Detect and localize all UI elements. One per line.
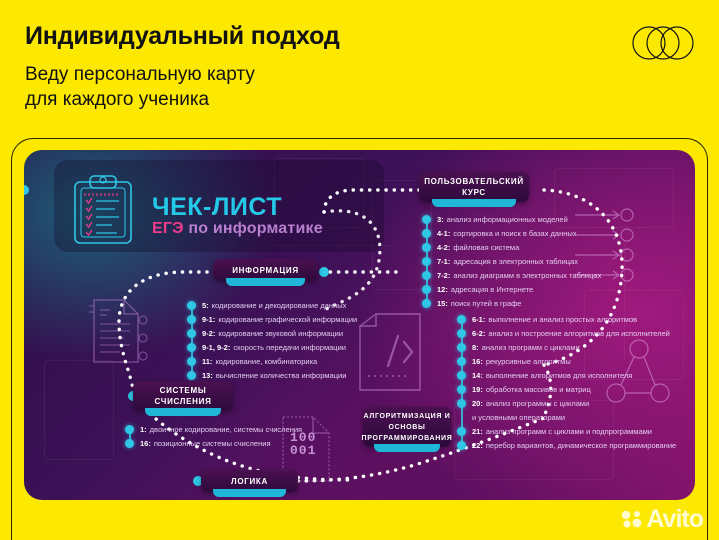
list-item[interactable]: 11:кодирование, комбинаторика <box>187 354 357 368</box>
list-item[interactable]: 9-1, 9-2:скорость передачи информации <box>187 340 357 354</box>
list-item-text: поиск путей в графе <box>451 299 522 308</box>
list-item-text: файловая система <box>453 243 519 252</box>
list-item[interactable]: 8:анализ программ с циклами <box>457 340 676 354</box>
list-item-number: 7-1: <box>437 257 450 266</box>
list-item-number: 22: <box>472 441 483 450</box>
list-item-number: 4-1: <box>437 229 450 238</box>
list-item-number: 11: <box>202 357 212 366</box>
list-item[interactable]: 19:обработка массивов и матриц <box>457 382 676 396</box>
list-item-text: перебор вариантов, динамическое программ… <box>486 441 676 450</box>
list-item-text: анализ программы с циклами <box>486 399 589 408</box>
list-item-text: анализ информационных моделей <box>447 215 568 224</box>
list-item-number: 16: <box>472 357 483 366</box>
list-item-number: 1: <box>140 425 147 434</box>
three-circles-logo-icon <box>632 22 694 64</box>
list-item-number: 15: <box>437 299 448 308</box>
list-item-text: скорость передачи информации <box>233 343 346 352</box>
list-item-text: анализ и построение алгоритмов для испол… <box>488 329 669 338</box>
list-item[interactable]: 21:анализ программ с циклами и подпрогра… <box>457 424 676 438</box>
list-item[interactable]: 4-1:сортировка и поиск в базах данных <box>422 226 601 240</box>
list-item-text: адресация в электронных таблицах <box>453 257 578 266</box>
list-item-number: 20: <box>472 399 483 408</box>
list-item-text: сортировка и поиск в базах данных <box>453 229 576 238</box>
list-item-number: 21: <box>472 427 483 436</box>
list-item[interactable]: 15:поиск путей в графе <box>422 296 601 310</box>
list-item-number: 9-1: <box>202 315 215 324</box>
badge-informaciya[interactable]: ИНФОРМАЦИЯ <box>213 259 318 281</box>
list-item-text: вычисление количества информации <box>216 371 347 380</box>
list-algoritmizaciya: 6-1:выполнение и анализ простых алгоритм… <box>457 312 676 452</box>
list-item-text: кодирование звуковой информации <box>218 329 343 338</box>
list-spine <box>191 302 193 376</box>
list-item[interactable]: 9-2:кодирование звуковой информации <box>187 326 357 340</box>
list-polzovatelskiy-kurs: 3:анализ информационных моделей4-1:сорти… <box>422 212 601 310</box>
list-item-text: кодирование, комбинаторика <box>215 357 317 366</box>
list-item-text: позиционные системы счисления <box>154 439 271 448</box>
list-informaciya: 5:кодирование и декодирование данных9-1:… <box>187 298 357 382</box>
badge-algoritmizaciya[interactable]: АЛГОРИТМИЗАЦИЯ И ОСНОВЫ ПРОГРАММИРОВАНИЯ <box>363 407 451 447</box>
avito-dots-icon <box>621 510 643 528</box>
list-item-text: кодирование графической информации <box>218 315 357 324</box>
list-sistemy-schisleniya: 1:двоичное кодирование, системы счислени… <box>125 422 302 450</box>
list-item[interactable]: 13:вычисление количества информации <box>187 368 357 382</box>
list-item-text: анализ программ с циклами и подпрограмма… <box>486 427 652 436</box>
list-item-number: 9-1, 9-2: <box>202 343 230 352</box>
list-item-number: 12: <box>437 285 448 294</box>
list-item[interactable]: 22:перебор вариантов, динамическое прогр… <box>457 438 676 452</box>
badge-logika[interactable]: ЛОГИКА <box>201 470 298 492</box>
list-item-number: 3: <box>437 215 444 224</box>
list-item-number: 7-2: <box>437 271 450 280</box>
list-item-text: обработка массивов и матриц <box>486 385 591 394</box>
list-item-number: 4-2: <box>437 243 450 252</box>
badge-sistemy-schisleniya[interactable]: СИСТЕМЫ СЧИСЛЕНИЯ <box>133 381 233 411</box>
list-item[interactable]: 7-1:адресация в электронных таблицах <box>422 254 601 268</box>
list-item-text: адресация в Интернете <box>451 285 533 294</box>
list-item[interactable]: 20:анализ программы с циклами <box>457 396 676 410</box>
list-item-number: 14: <box>472 371 483 380</box>
list-item-text: анализ диаграмм в электронных таблицах <box>453 271 601 280</box>
avito-watermark: Avito <box>621 504 703 534</box>
list-item[interactable]: 12:адресация в Интернете <box>422 282 601 296</box>
infographic-card: ЧЕК-ЛИСТ ЕГЭ по информатике <box>24 150 695 500</box>
page-subtitle-line-2: для каждого ученика <box>25 87 255 112</box>
list-item-text: рекурсивные алгоритмы <box>486 357 571 366</box>
list-item-text: выполнение и анализ простых алгоритмов <box>488 315 637 324</box>
list-item-number: 5: <box>202 301 209 310</box>
list-item-text: двоичное кодирование, системы счисления <box>150 425 302 434</box>
list-item[interactable]: 16:рекурсивные алгоритмы <box>457 354 676 368</box>
list-item-text: анализ программ с циклами <box>482 343 580 352</box>
list-spine <box>426 216 428 304</box>
list-item[interactable]: 14:выполнение алгоритмов для исполнителя <box>457 368 676 382</box>
list-item-number: 13: <box>202 371 213 380</box>
list-item[interactable]: 7-2:анализ диаграмм в электронных таблиц… <box>422 268 601 282</box>
list-item-number: 9-2: <box>202 329 215 338</box>
list-item[interactable]: 3:анализ информационных моделей <box>422 212 601 226</box>
list-item-continuation: и условными операторами <box>457 410 676 424</box>
page-title: Индивидуальный подход <box>25 22 340 51</box>
list-item-text: кодирование и декодирование данных <box>212 301 347 310</box>
list-item[interactable]: 6-1:выполнение и анализ простых алгоритм… <box>457 312 676 326</box>
list-spine <box>461 316 463 446</box>
list-item[interactable]: 9-1:кодирование графической информации <box>187 312 357 326</box>
badge-polzovatelskiy-kurs[interactable]: ПОЛЬЗОВАТЕЛЬСКИЙ КУРС <box>419 172 529 202</box>
list-item[interactable]: 1:двоичное кодирование, системы счислени… <box>125 422 302 436</box>
list-item-number: 16: <box>140 439 151 448</box>
list-item[interactable]: 16:позиционные системы счисления <box>125 436 302 450</box>
page-subtitle-line-1: Веду персональную карту <box>25 62 255 87</box>
list-item-number: 8: <box>472 343 479 352</box>
list-item-text: и условными операторами <box>472 413 565 422</box>
list-item-text: выполнение алгоритмов для исполнителя <box>486 371 633 380</box>
list-spine <box>129 426 131 444</box>
list-item[interactable]: 6-2:анализ и построение алгоритмов для и… <box>457 326 676 340</box>
list-item-number: 6-1: <box>472 315 485 324</box>
page-subtitle: Веду персональную карту для каждого учен… <box>25 62 255 112</box>
avito-brand-text: Avito <box>646 507 703 532</box>
list-item[interactable]: 4-2:файловая система <box>422 240 601 254</box>
list-item-number: 19: <box>472 385 483 394</box>
list-item[interactable]: 5:кодирование и декодирование данных <box>187 298 357 312</box>
header-banner: Индивидуальный подход Веду персональную … <box>0 0 719 140</box>
list-item-number: 6-2: <box>472 329 485 338</box>
